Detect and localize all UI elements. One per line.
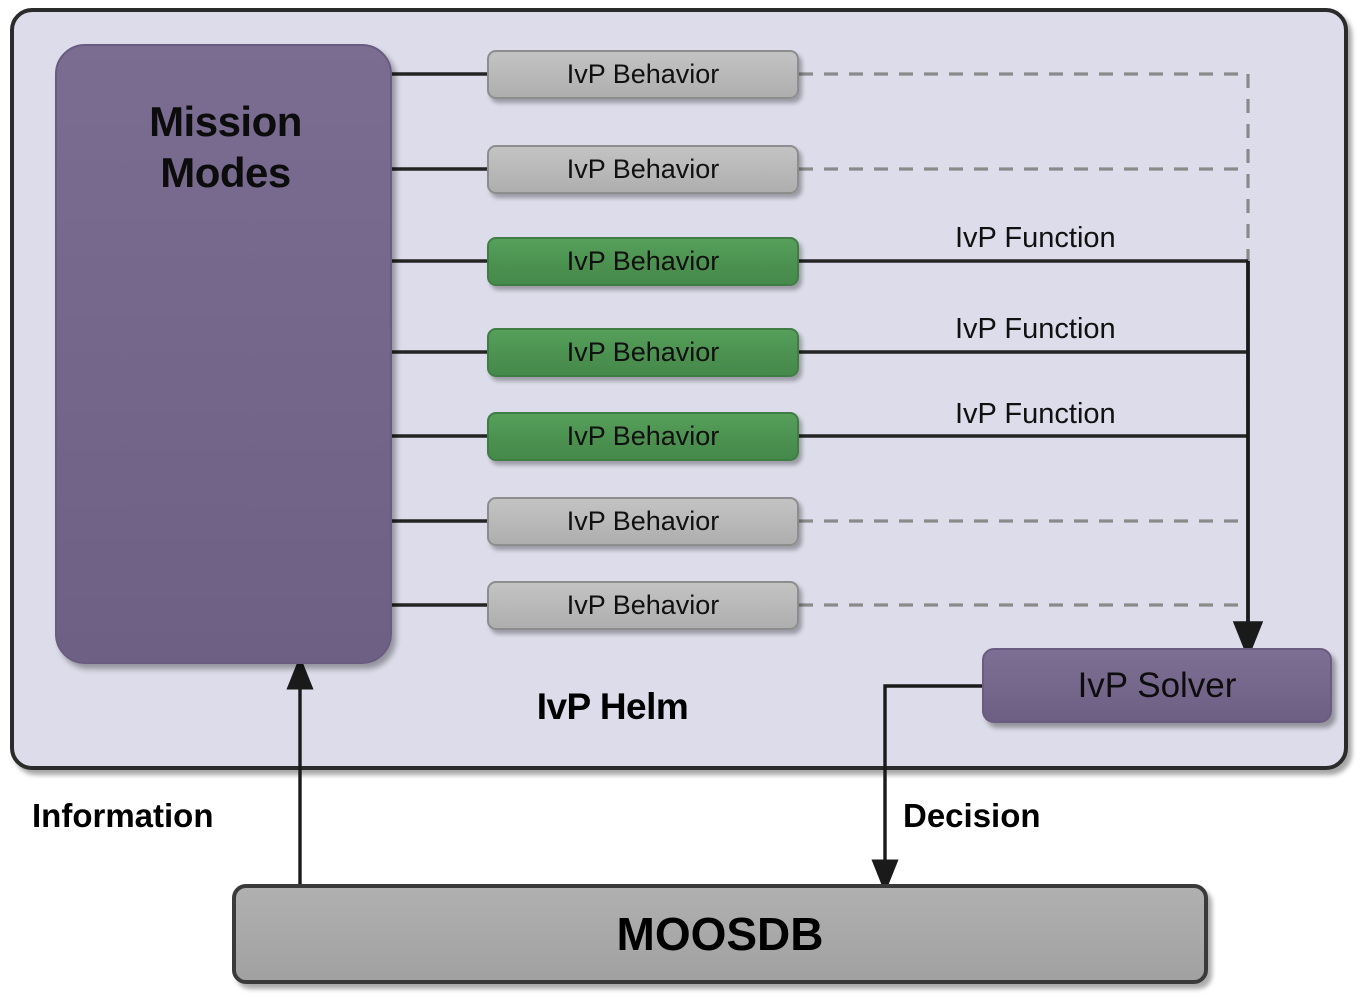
- behavior-label: IvP Behavior: [567, 421, 720, 452]
- behavior-box-4[interactable]: IvP Behavior: [487, 328, 799, 377]
- ivp-function-label-3: IvP Function: [955, 398, 1116, 431]
- behavior-box-5[interactable]: IvP Behavior: [487, 412, 799, 461]
- behavior-box-6[interactable]: IvP Behavior: [487, 497, 799, 546]
- decision-label: Decision: [903, 797, 1041, 835]
- behavior-box-3[interactable]: IvP Behavior: [487, 237, 799, 286]
- behavior-label: IvP Behavior: [567, 59, 720, 90]
- ivp-helm-label: IvP Helm: [460, 686, 765, 728]
- ivp-solver-label: IvP Solver: [1078, 666, 1237, 706]
- ivp-solver-box[interactable]: IvP Solver: [982, 648, 1332, 723]
- mission-modes-title-line2: Modes: [160, 149, 291, 196]
- behavior-label: IvP Behavior: [567, 154, 720, 185]
- behavior-box-7[interactable]: IvP Behavior: [487, 581, 799, 630]
- mission-modes-title-line1: Mission: [149, 98, 302, 145]
- behavior-label: IvP Behavior: [567, 506, 720, 537]
- diagram-canvas: MissionModes IvP Behavior IvP Behavior I…: [0, 0, 1372, 1002]
- ivp-function-label-2: IvP Function: [955, 313, 1116, 346]
- moosdb-label: MOOSDB: [617, 907, 824, 961]
- behavior-box-2[interactable]: IvP Behavior: [487, 145, 799, 194]
- ivp-function-label-1: IvP Function: [955, 222, 1116, 255]
- information-label: Information: [32, 797, 213, 835]
- behavior-box-1[interactable]: IvP Behavior: [487, 50, 799, 99]
- mission-modes-panel[interactable]: MissionModes: [55, 44, 392, 664]
- mission-modes-title: MissionModes: [57, 96, 394, 198]
- behavior-label: IvP Behavior: [567, 590, 720, 621]
- behavior-label: IvP Behavior: [567, 337, 720, 368]
- moosdb-box[interactable]: MOOSDB: [232, 884, 1208, 984]
- behavior-label: IvP Behavior: [567, 246, 720, 277]
